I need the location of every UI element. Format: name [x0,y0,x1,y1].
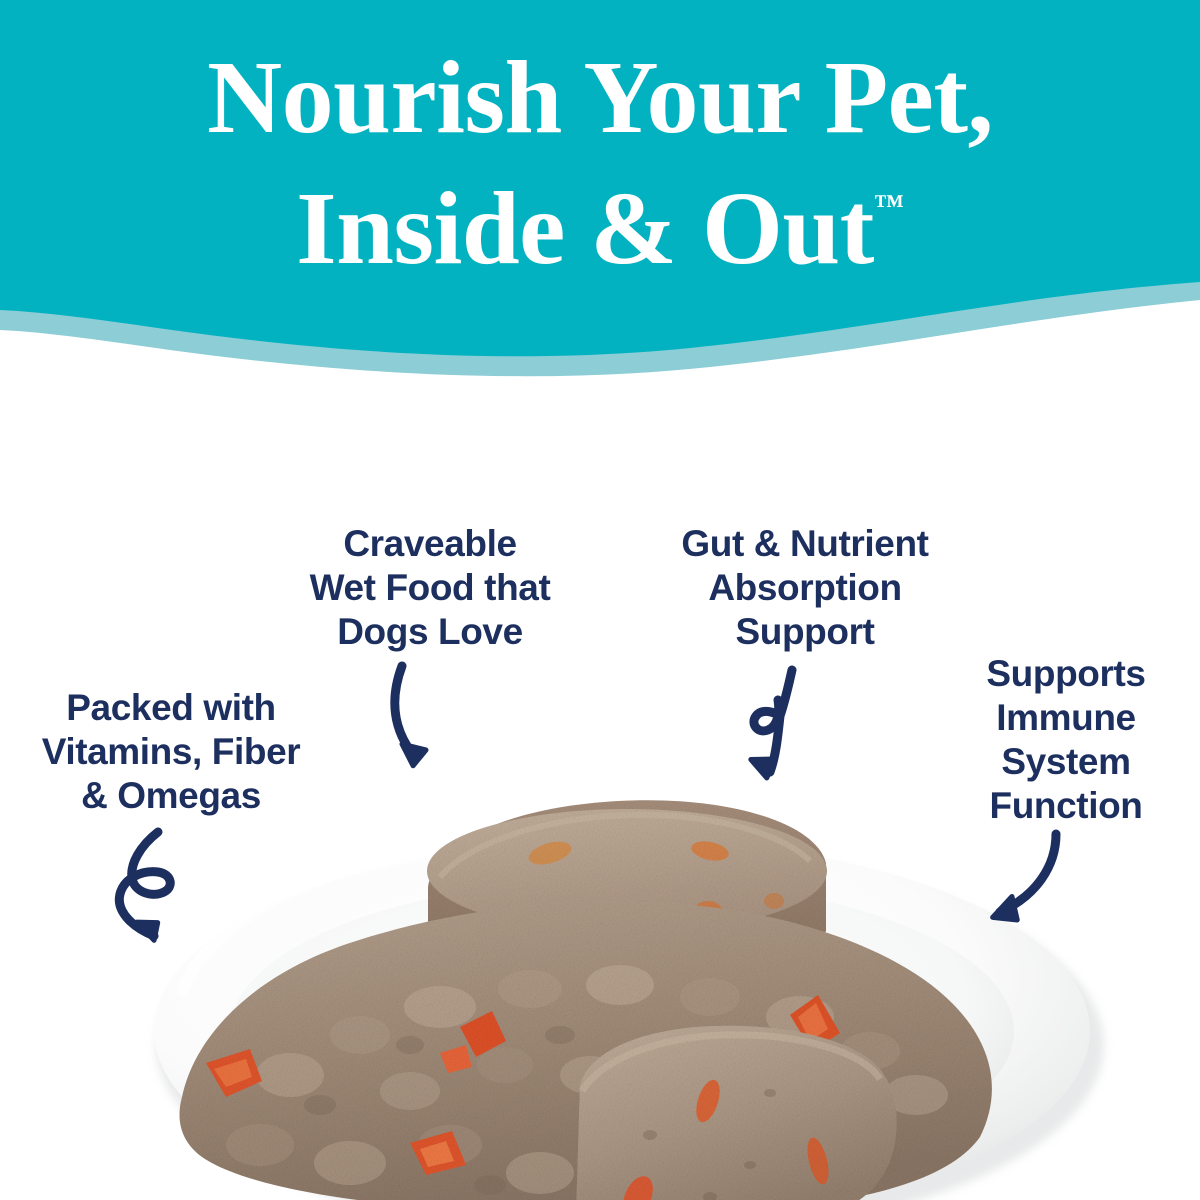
page-title: Nourish Your Pet,Inside & Out™ [0,44,1200,283]
header-banner: Nourish Your Pet,Inside & Out™ [0,0,1200,400]
curved-arrow-down-icon [378,658,458,778]
looped-arrow-down-left-icon [736,664,826,794]
headline-line-1: Nourish Your Pet, [207,40,993,155]
callout-gut-nutrient-absorption: Gut & Nutrient Absorption Support [640,522,970,654]
curved-arrow-down-left-icon [962,826,1072,936]
looped-arrow-down-right-icon [96,824,226,954]
callout-craveable-wet-food: Craveable Wet Food that Dogs Love [262,522,598,654]
callout-supports-immune-system: Supports Immune System Function [938,652,1194,828]
trademark-symbol: ™ [874,189,904,222]
headline-line-2: Inside & Out [296,171,874,286]
callout-packed-with-vitamins: Packed with Vitamins, Fiber & Omegas [6,686,336,818]
promotional-graphic: Nourish Your Pet,Inside & Out™ [0,0,1200,1200]
loaf-slice-front [576,1026,897,1200]
